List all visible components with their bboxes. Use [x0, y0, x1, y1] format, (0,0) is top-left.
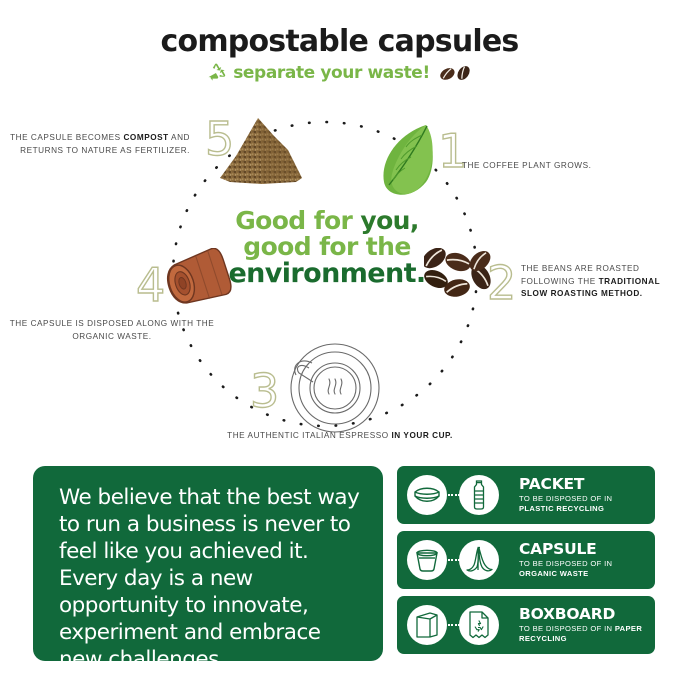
- coffee-capsule-icon: [407, 540, 447, 580]
- step-5-caption-bold: COMPOST: [123, 133, 168, 142]
- disposal-card-packet[interactable]: PACKET TO BE DISPOSED OF IN PLASTIC RECY…: [397, 466, 655, 524]
- banana-peel-icon: [459, 540, 499, 580]
- quote-text: We believe that the best way to run a bu…: [59, 484, 364, 674]
- lifecycle-diagram: Good for you, good for the environment.: [0, 100, 679, 455]
- paper-recycling-icon: [459, 605, 499, 645]
- disposal-card-capsule[interactable]: CAPSULE TO BE DISPOSED OF IN ORGANIC WAS…: [397, 531, 655, 589]
- step-4-caption: THE CAPSULE IS DISPOSED ALONG WITH THE O…: [6, 318, 218, 343]
- leaf-icon: [378, 122, 440, 200]
- page-title: compostable capsules: [0, 26, 679, 58]
- step-5-caption-a: THE CAPSULE BECOMES: [10, 133, 123, 142]
- disposal-card-boxboard[interactable]: BOXBOARD TO BE DISPOSED OF IN PAPER RECY…: [397, 596, 655, 654]
- step-number-2: 2: [487, 260, 516, 306]
- card-icons: [397, 466, 517, 524]
- infographic-page: compostable capsules separate your waste…: [0, 0, 679, 679]
- card-sub-bold: PLASTIC RECYCLING: [519, 504, 604, 513]
- header: compostable capsules separate your waste…: [0, 26, 679, 84]
- tagline: separate your waste!: [233, 63, 430, 83]
- coffee-capsule-icon: [166, 248, 232, 310]
- quote-panel: We believe that the best way to run a bu…: [33, 466, 383, 661]
- center-claim: Good for you, good for the environment.: [228, 208, 426, 287]
- card-sub-normal: TO BE DISPOSED OF IN: [519, 624, 615, 633]
- recycle-icon: [205, 63, 227, 83]
- claim-line-3: environment.: [228, 260, 426, 287]
- step-5-caption: THE CAPSULE BECOMES COMPOST AND RETURNS …: [0, 132, 190, 157]
- espresso-cup-icon: [285, 338, 381, 434]
- card-icons: [397, 596, 517, 654]
- card-title-boxboard: BOXBOARD: [519, 606, 655, 622]
- claim-line-1b: you,: [360, 206, 418, 235]
- card-sub-bold: ORGANIC WASTE: [519, 569, 589, 578]
- claim-line-2: good for the: [228, 234, 426, 259]
- card-sub-normal: TO BE DISPOSED OF IN: [519, 494, 612, 503]
- step-3-caption: THE AUTHENTIC ITALIAN ESPRESSO IN YOUR C…: [160, 430, 520, 443]
- coffee-beans-icon: [436, 62, 474, 84]
- card-text: PACKET TO BE DISPOSED OF IN PLASTIC RECY…: [517, 476, 612, 514]
- packet-pillow-pack-icon: [407, 475, 447, 515]
- plastic-bottle-icon: [459, 475, 499, 515]
- card-sub-normal: TO BE DISPOSED OF IN: [519, 559, 612, 568]
- tagline-row: separate your waste!: [0, 62, 679, 84]
- card-title-packet: PACKET: [519, 476, 612, 492]
- claim-line-1: Good for you,: [228, 208, 426, 233]
- claim-line-1a: Good for: [235, 206, 360, 235]
- disposal-cards: PACKET TO BE DISPOSED OF IN PLASTIC RECY…: [397, 466, 655, 661]
- step-3-caption-bold: IN YOUR CUP.: [391, 431, 452, 440]
- step-1-caption: THE COFFEE PLANT GROWS.: [462, 160, 662, 173]
- step-number-4: 4: [136, 262, 165, 308]
- card-title-capsule: CAPSULE: [519, 541, 612, 557]
- card-text: CAPSULE TO BE DISPOSED OF IN ORGANIC WAS…: [517, 541, 612, 579]
- card-icons: [397, 531, 517, 589]
- step-3-caption-a: THE AUTHENTIC ITALIAN ESPRESSO: [227, 431, 391, 440]
- step-number-5: 5: [205, 116, 234, 162]
- cardboard-box-icon: [407, 605, 447, 645]
- card-sub-packet: TO BE DISPOSED OF IN PLASTIC RECYCLING: [519, 494, 612, 514]
- card-text: BOXBOARD TO BE DISPOSED OF IN PAPER RECY…: [517, 606, 655, 644]
- card-sub-boxboard: TO BE DISPOSED OF IN PAPER RECYCLING: [519, 624, 655, 644]
- step-number-3: 3: [250, 368, 279, 414]
- step-2-caption: THE BEANS ARE ROASTED FOLLOWING THE TRAD…: [521, 263, 679, 301]
- card-sub-capsule: TO BE DISPOSED OF IN ORGANIC WASTE: [519, 559, 612, 579]
